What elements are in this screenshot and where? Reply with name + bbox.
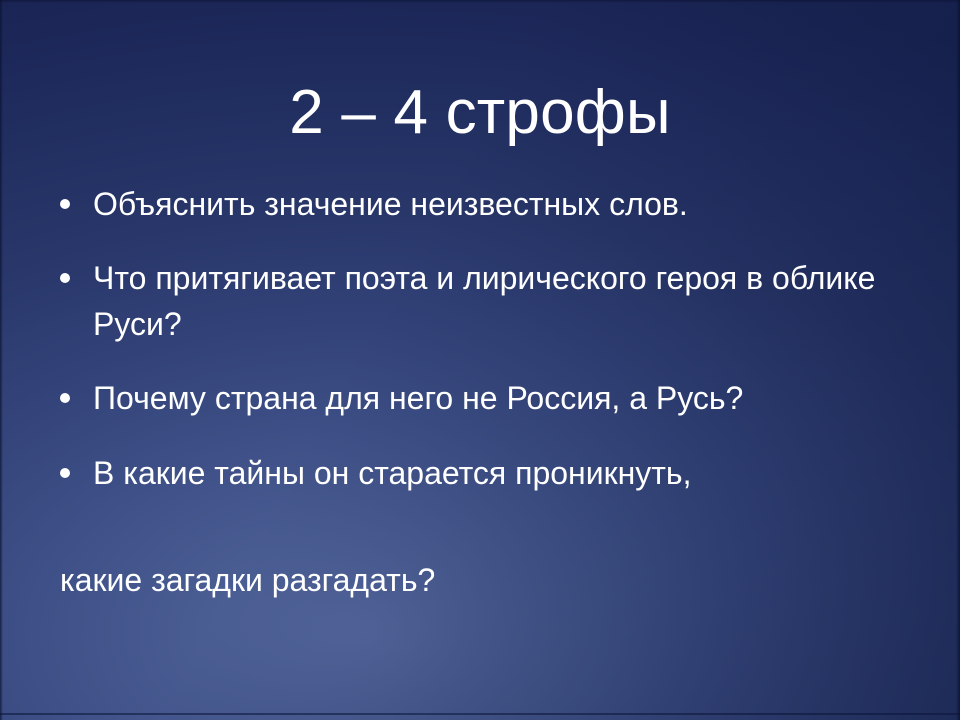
list-item: Объяснить значение неизвестных слов. [48, 182, 920, 227]
bullet-text: Объяснить значение неизвестных слов. [93, 182, 920, 227]
list-item: Что притягивает поэта и лирического геро… [48, 256, 920, 347]
bullet-dot-icon [60, 468, 70, 478]
list-item: Почему страна для него не Россия, а Русь… [48, 376, 920, 421]
bullet-text: В какие тайны он старается проникнуть, [93, 451, 920, 496]
bullet-text: Почему страна для него не Россия, а Русь… [93, 376, 920, 421]
list-item: В какие тайны он старается проникнуть, [48, 451, 920, 496]
bullet-continuation-line: какие загадки разгадать? [60, 558, 435, 603]
slide-content: 2 – 4 строфы Объяснить значение неизвест… [0, 0, 960, 720]
presentation-slide: 2 – 4 строфы Объяснить значение неизвест… [0, 0, 960, 720]
bullet-text: Что притягивает поэта и лирического геро… [93, 256, 920, 347]
bullet-dot-icon [60, 273, 70, 283]
slide-title: 2 – 4 строфы [0, 80, 960, 145]
bullet-dot-icon [60, 199, 70, 209]
bullet-dot-icon [60, 393, 70, 403]
slide-bullet-list: Объяснить значение неизвестных слов. Что… [48, 182, 920, 496]
